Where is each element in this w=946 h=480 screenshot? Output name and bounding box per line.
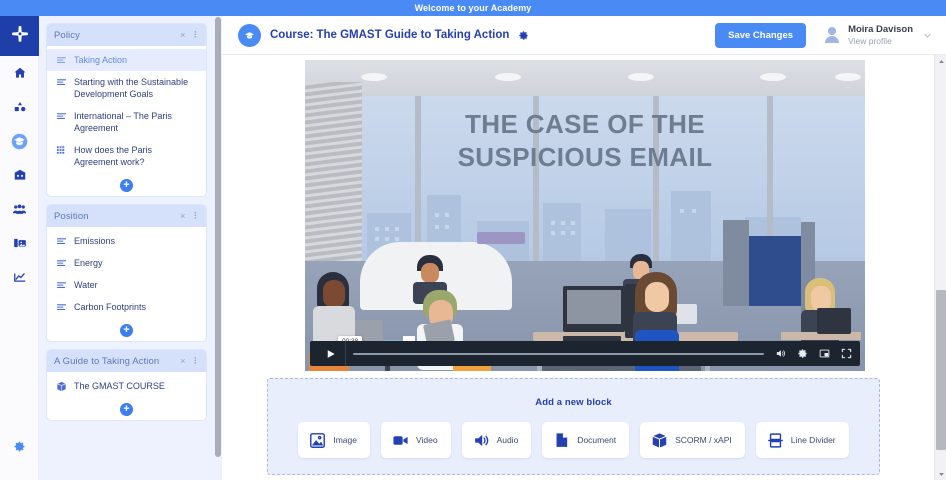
- speaker-icon: [473, 432, 490, 449]
- building: [605, 209, 651, 261]
- add-block-label: Audio: [497, 435, 519, 445]
- content-scrollbar[interactable]: [934, 55, 946, 480]
- analytics-icon[interactable]: [0, 260, 39, 294]
- outline-item-emissions[interactable]: Emissions: [47, 230, 206, 252]
- video-title-overlay: THE CASE OF THE SUSPICIOUS EMAIL: [305, 108, 865, 174]
- outline-item-label: The GMAST COURSE: [74, 380, 198, 392]
- save-changes-button[interactable]: Save Changes: [715, 23, 806, 48]
- add-image-block-button[interactable]: Image: [298, 422, 370, 458]
- outline-item-sdg[interactable]: Starting with the Sustainable Developmen…: [47, 71, 206, 105]
- section-header[interactable]: Policy × ⠇: [47, 24, 206, 46]
- outline-section: Position × ⠇ Emissions: [47, 205, 206, 341]
- scroll-up-arrow-icon[interactable]: [935, 55, 946, 67]
- drag-handle-icon[interactable]: ⠇: [193, 31, 199, 40]
- home-icon[interactable]: [0, 56, 39, 90]
- section-header[interactable]: Position × ⠇: [47, 205, 206, 227]
- add-block-options: Image Video: [268, 422, 879, 458]
- add-line-divider-block-button[interactable]: Line Divider: [756, 422, 849, 458]
- video-block[interactable]: THE CASE OF THE SUSPICIOUS EMAIL 00:38: [305, 60, 865, 371]
- scorm-box-icon: [56, 381, 67, 392]
- box-icon: [651, 432, 668, 449]
- section-title: Position: [54, 211, 180, 222]
- scrollbar-thumb[interactable]: [936, 290, 946, 450]
- outline-item-carbon-footprints[interactable]: Carbon Footprints: [47, 296, 206, 318]
- lesson-icon: [56, 236, 67, 247]
- outline-item-label: Taking Action: [74, 54, 198, 66]
- person-face: [323, 280, 345, 308]
- quiz-icon: [56, 145, 67, 156]
- user-name: Moira Davison: [848, 24, 913, 36]
- course-settings-gear-icon[interactable]: [518, 30, 529, 41]
- outline-item-paris-agreement[interactable]: International – The Paris Agreement: [47, 105, 206, 139]
- person-face: [421, 263, 439, 283]
- top-announcement-text: Welcome to your Academy: [415, 3, 532, 13]
- course-avatar-icon: [238, 24, 261, 47]
- section-items: The GMAST COURSE: [47, 372, 206, 398]
- ceiling-light: [760, 73, 786, 81]
- document-icon: [553, 432, 570, 449]
- volume-icon[interactable]: [775, 348, 786, 359]
- school-icon[interactable]: [0, 158, 39, 192]
- controls-divider: [345, 341, 346, 366]
- lesson-icon: [56, 258, 67, 269]
- plus-icon: +: [120, 179, 133, 192]
- add-scorm-block-button[interactable]: SCORM / xAPI: [640, 422, 745, 458]
- outline-item-paris-quiz[interactable]: How does the Paris Agreement work?: [47, 139, 206, 173]
- add-block-label: Line Divider: [791, 435, 836, 445]
- outline-item-gmast-course[interactable]: The GMAST COURSE: [47, 375, 206, 397]
- page-title: Course:The GMAST Guide to Taking Action: [270, 29, 509, 41]
- plus-icon: +: [120, 324, 133, 337]
- gear-icon[interactable]: [0, 434, 39, 458]
- ceiling-light: [495, 73, 521, 81]
- ceiling-light: [628, 73, 654, 81]
- ceiling-light: [835, 73, 861, 81]
- ceiling-light: [361, 73, 387, 81]
- person-face: [645, 282, 669, 312]
- academy-logo[interactable]: [0, 16, 39, 56]
- lesson-icon: [56, 55, 67, 66]
- course-content-area: THE CASE OF THE SUSPICIOUS EMAIL 00:38: [222, 55, 946, 480]
- close-icon[interactable]: ×: [180, 211, 185, 221]
- outline-item-label: How does the Paris Agreement work?: [74, 144, 198, 168]
- add-block-label: SCORM / xAPI: [675, 435, 732, 445]
- section-items: Taking Action Starting with the Sustaina…: [47, 46, 206, 174]
- monitor-screen: [567, 290, 621, 324]
- avatar-body: [825, 36, 839, 43]
- outline-section: A Guide to Taking Action × ⠇ The GMAST C…: [47, 350, 206, 420]
- outline-item-label: Water: [74, 279, 198, 291]
- add-block-label: Video: [416, 435, 438, 445]
- course-outline-list: Policy × ⠇ Taking Action: [39, 16, 214, 420]
- lesson-icon: [56, 280, 67, 291]
- outline-item-label: International – The Paris Agreement: [74, 110, 198, 134]
- section-header[interactable]: A Guide to Taking Action × ⠇: [47, 350, 206, 372]
- top-announcement-bar: Welcome to your Academy: [0, 0, 946, 16]
- view-profile-link[interactable]: View profile: [848, 36, 913, 47]
- add-item-button[interactable]: +: [47, 319, 206, 341]
- outline-section: Policy × ⠇ Taking Action: [47, 24, 206, 196]
- outline-item-label: Emissions: [74, 235, 198, 247]
- outline-item-label: Carbon Footprints: [74, 301, 198, 313]
- video-controls: [310, 341, 860, 366]
- outline-item-label: Starting with the Sustainable Developmen…: [74, 76, 198, 100]
- add-video-block-button[interactable]: Video: [381, 422, 451, 458]
- add-block-panel: Add a new block Image: [267, 378, 880, 475]
- outline-item-taking-action[interactable]: Taking Action: [47, 49, 206, 71]
- section-items: Emissions Energy: [47, 227, 206, 319]
- drag-handle-icon[interactable]: ⠇: [193, 357, 199, 366]
- add-document-block-button[interactable]: Document: [542, 422, 629, 458]
- outline-item-water[interactable]: Water: [47, 274, 206, 296]
- cubicle-panel: [749, 236, 801, 306]
- section-title: A Guide to Taking Action: [54, 356, 180, 367]
- blocks-icon[interactable]: [0, 90, 39, 124]
- close-icon[interactable]: ×: [180, 356, 185, 366]
- lesson-icon: [56, 77, 67, 88]
- add-block-label: Image: [333, 435, 357, 445]
- video-title-line1: THE CASE OF THE: [305, 108, 865, 141]
- section-title: Policy: [54, 30, 180, 41]
- media-icon[interactable]: [0, 226, 39, 260]
- sidebar-scrollbar-thumb[interactable]: [215, 17, 221, 457]
- drag-handle-icon[interactable]: ⠇: [193, 212, 199, 221]
- avatar[interactable]: [824, 27, 840, 43]
- video-poster-illustration: THE CASE OF THE SUSPICIOUS EMAIL: [305, 60, 865, 371]
- video-title-line2: SUSPICIOUS EMAIL: [305, 141, 865, 174]
- lesson-icon: [56, 111, 67, 122]
- avatar-head: [828, 27, 836, 35]
- add-item-button[interactable]: +: [47, 174, 206, 196]
- progress-bar[interactable]: [353, 353, 764, 355]
- icon-rail: [0, 16, 39, 480]
- building: [543, 203, 581, 261]
- user-info[interactable]: Moira Davison View profile: [848, 24, 913, 47]
- folders: [477, 232, 525, 244]
- office-ceiling: [305, 60, 865, 96]
- lesson-icon: [56, 302, 67, 313]
- monitor: [817, 308, 851, 334]
- image-icon: [309, 432, 326, 449]
- course-outline-sidebar: Policy × ⠇ Taking Action: [39, 16, 222, 480]
- cubicle-wall: [723, 220, 749, 306]
- close-icon[interactable]: ×: [180, 30, 185, 40]
- chevron-down-icon[interactable]: [923, 31, 932, 40]
- add-block-title: Add a new block: [268, 397, 879, 408]
- fullscreen-icon[interactable]: [841, 348, 852, 359]
- outline-item-label: Energy: [74, 257, 198, 269]
- picture-in-picture-icon[interactable]: [819, 348, 830, 359]
- scroll-down-arrow-icon[interactable]: [935, 468, 946, 480]
- divider-icon: [767, 432, 784, 449]
- add-audio-block-button[interactable]: Audio: [462, 422, 532, 458]
- outline-item-energy[interactable]: Energy: [47, 252, 206, 274]
- video-camera-icon: [392, 432, 409, 449]
- users-icon[interactable]: [0, 192, 39, 226]
- course-name: The GMAST Guide to Taking Action: [316, 29, 509, 41]
- course-header: Course:The GMAST Guide to Taking Action …: [222, 16, 946, 55]
- course-label: Course:: [270, 29, 313, 41]
- play-icon[interactable]: [318, 341, 342, 366]
- add-item-button[interactable]: +: [47, 398, 206, 420]
- settings-gear-icon[interactable]: [797, 348, 808, 359]
- add-block-label: Document: [577, 435, 616, 445]
- building: [671, 191, 711, 261]
- plus-icon: +: [120, 403, 133, 416]
- graduation-cap-icon[interactable]: [0, 124, 39, 158]
